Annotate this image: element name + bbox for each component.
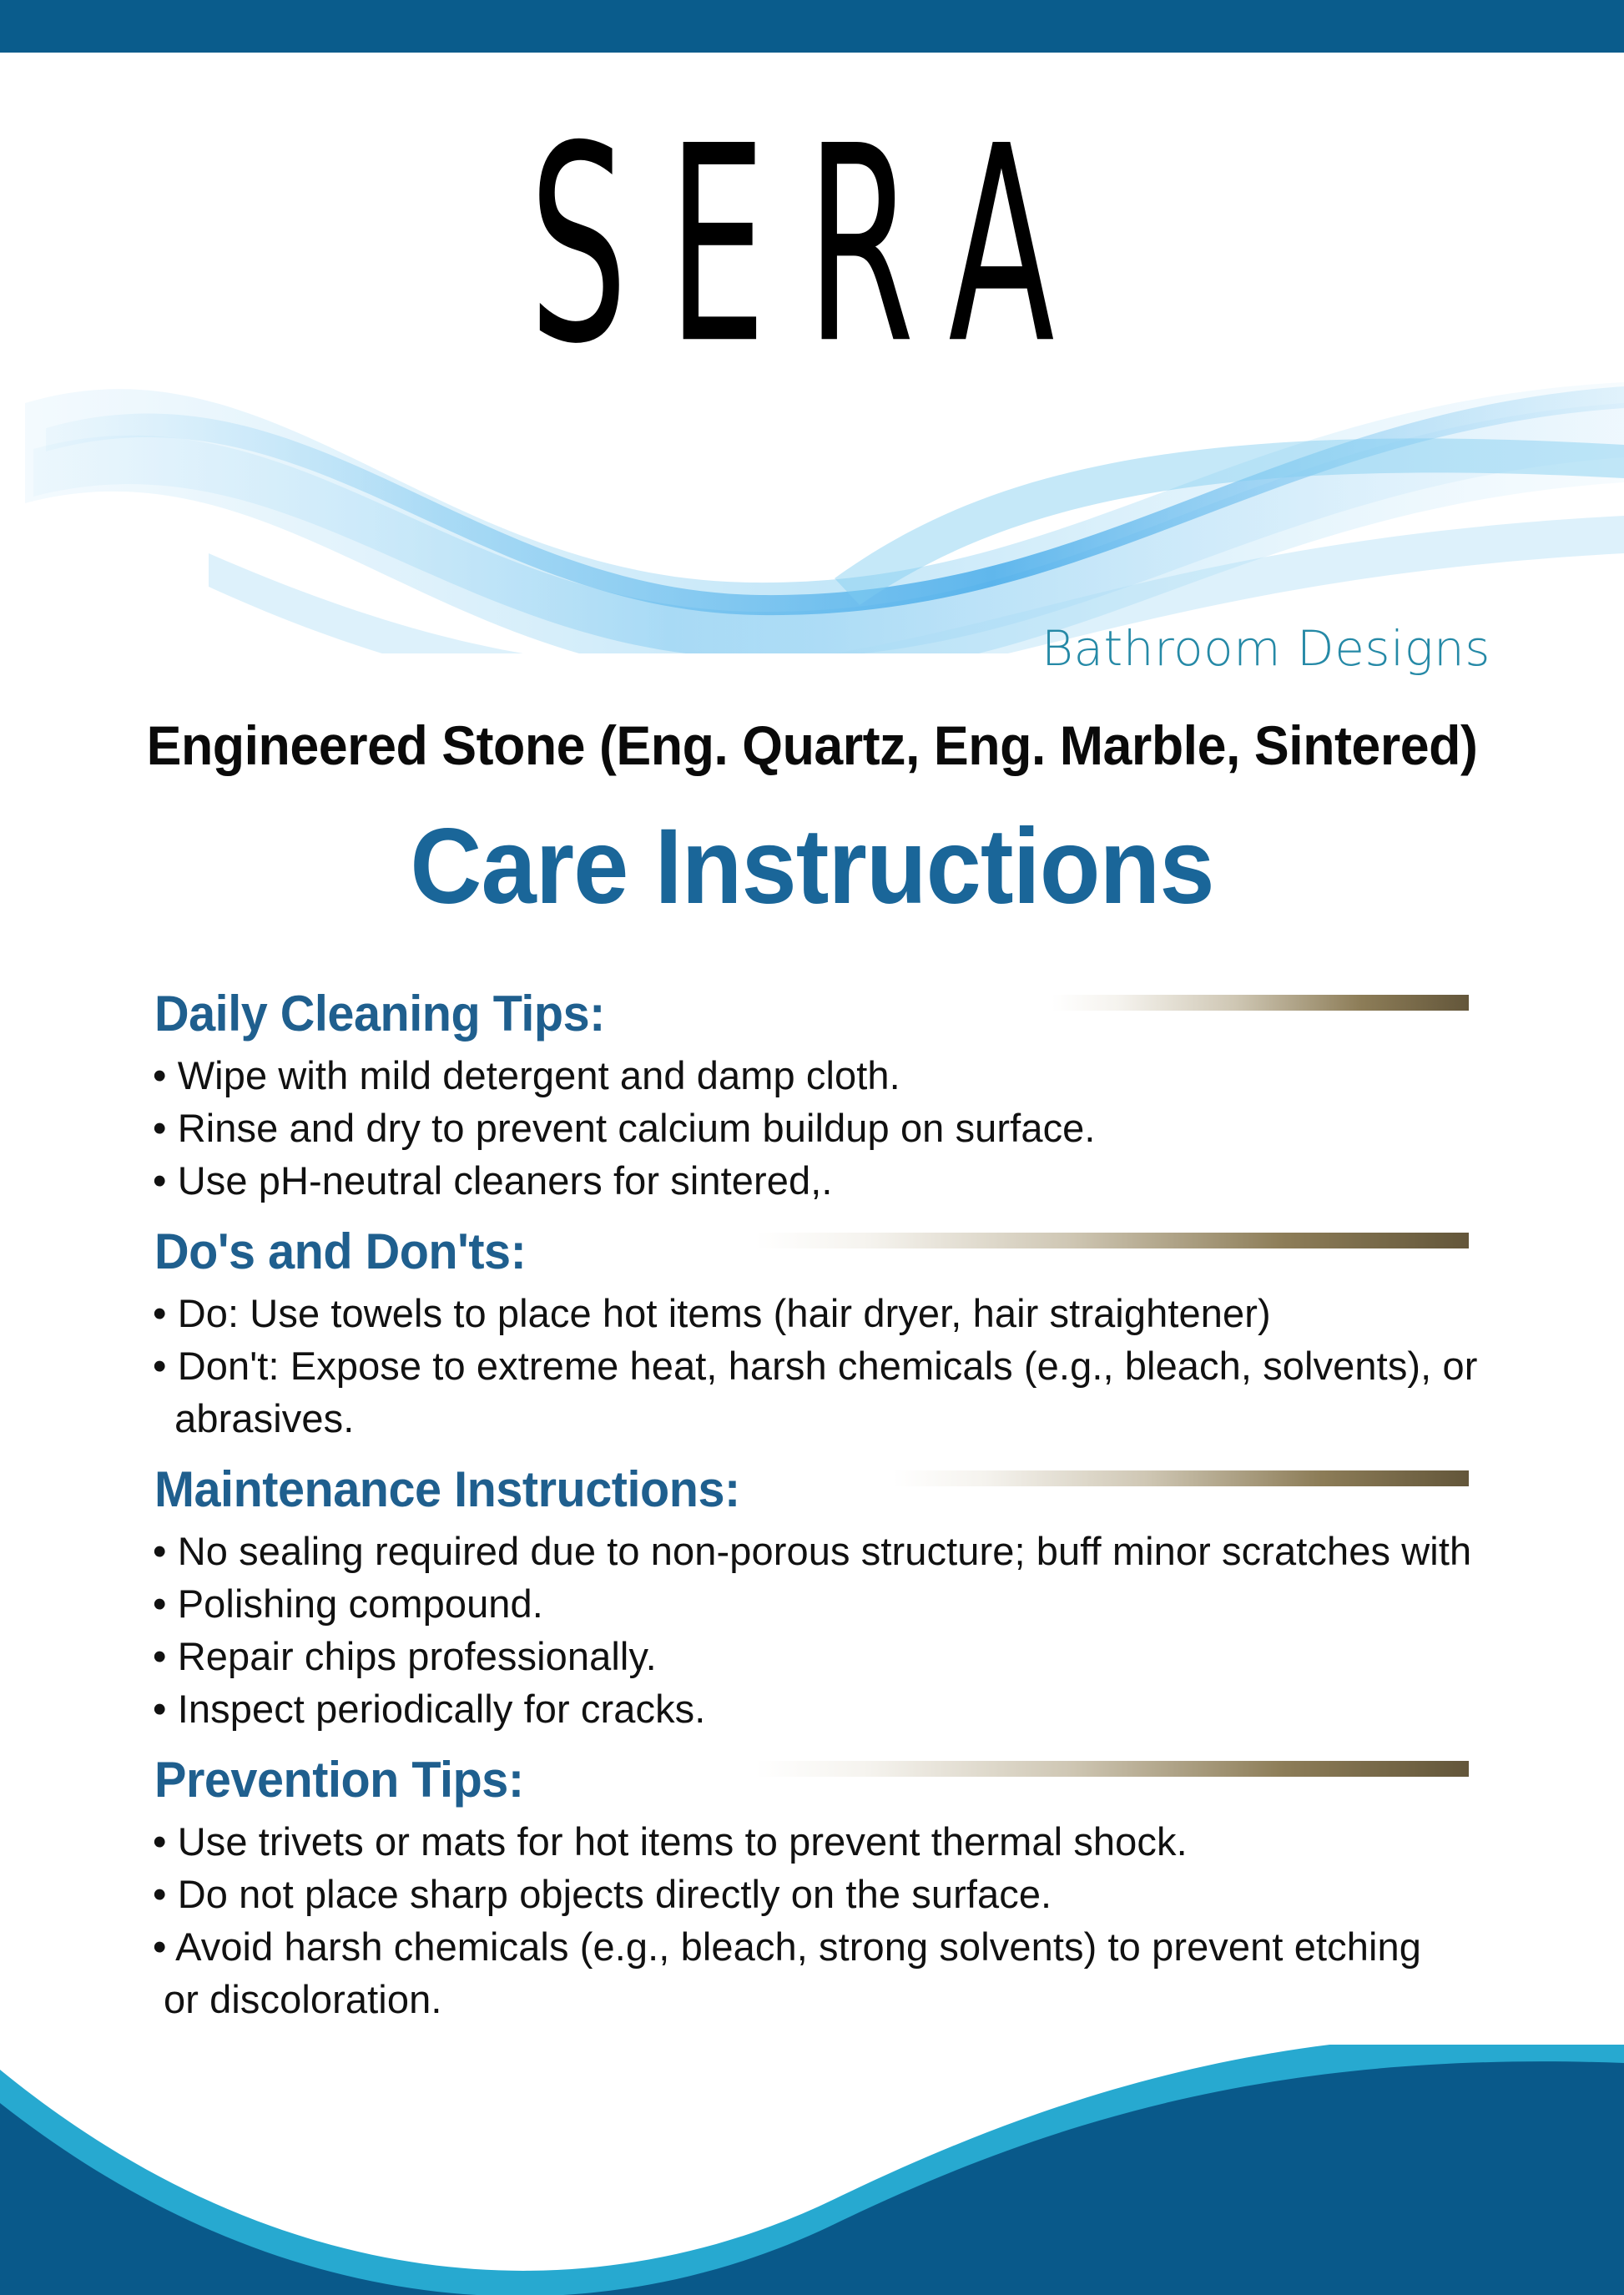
list-item: • Do not place sharp objects directly on… [0, 1869, 1624, 1921]
section-maintenance-instructions: Maintenance Instructions: • No sealing r… [0, 1460, 1624, 1736]
section-divider-rule [755, 1761, 1469, 1777]
list-item: • Do: Use towels to place hot items (hai… [0, 1288, 1624, 1340]
list-item-continuation: or discoloration. [0, 1974, 1624, 2026]
list-item: • Polishing compound. [0, 1578, 1624, 1631]
footer-wave-dark-layer [0, 2061, 1624, 2295]
section-title: Prevention Tips: [154, 1751, 524, 1808]
list-item: • No sealing required due to non-porous … [0, 1526, 1624, 1578]
section-prevention-tips: Prevention Tips: • Use trivets or mats f… [0, 1751, 1624, 2026]
section-header: Prevention Tips: [0, 1751, 1624, 1816]
list-item: • Don't: Expose to extreme heat, harsh c… [0, 1340, 1624, 1393]
section-dos-and-donts: Do's and Don'ts: • Do: Use towels to pla… [0, 1223, 1624, 1445]
section-title: Daily Cleaning Tips: [154, 985, 605, 1042]
list-item: • Inspect periodically for cracks. [0, 1683, 1624, 1736]
list-item: • Avoid harsh chemicals (e.g., bleach, s… [0, 1921, 1624, 1974]
top-header-bar [0, 0, 1624, 53]
section-header: Maintenance Instructions: [0, 1460, 1624, 1526]
section-header: Daily Cleaning Tips: [0, 985, 1624, 1050]
list-item: • Repair chips professionally. [0, 1631, 1624, 1683]
list-item-continuation: abrasives. [0, 1393, 1624, 1445]
bullet-list: • Do: Use towels to place hot items (hai… [0, 1288, 1624, 1445]
product-subtitle: Engineered Stone (Eng. Quartz, Eng. Marb… [41, 714, 1584, 777]
care-instructions-content: Daily Cleaning Tips: • Wipe with mild de… [0, 985, 1624, 2041]
page-title: Care Instructions [57, 805, 1567, 928]
decorative-blue-wave-graphic [0, 303, 1624, 653]
section-daily-cleaning-tips: Daily Cleaning Tips: • Wipe with mild de… [0, 985, 1624, 1208]
brand-logo-area: SERA [0, 53, 1624, 704]
brand-tagline: Bathroom Designs [0, 620, 1624, 677]
section-title: Maintenance Instructions: [154, 1460, 740, 1518]
footer-wave-graphic [0, 2045, 1624, 2295]
section-header: Do's and Don'ts: [0, 1223, 1624, 1288]
list-item: • Use pH-neutral cleaners for sintered,. [0, 1155, 1624, 1208]
list-item: • Wipe with mild detergent and damp clot… [0, 1050, 1624, 1102]
section-title: Do's and Don'ts: [154, 1223, 526, 1280]
list-item: • Use trivets or mats for hot items to p… [0, 1816, 1624, 1869]
list-item: • Rinse and dry to prevent calcium build… [0, 1102, 1624, 1155]
section-divider-rule [1052, 995, 1469, 1011]
section-divider-rule [893, 1470, 1469, 1486]
bullet-list: • Use trivets or mats for hot items to p… [0, 1816, 1624, 2026]
bullet-list: • Wipe with mild detergent and damp clot… [0, 1050, 1624, 1208]
section-divider-rule [755, 1233, 1469, 1248]
bullet-list: • No sealing required due to non-porous … [0, 1526, 1624, 1736]
